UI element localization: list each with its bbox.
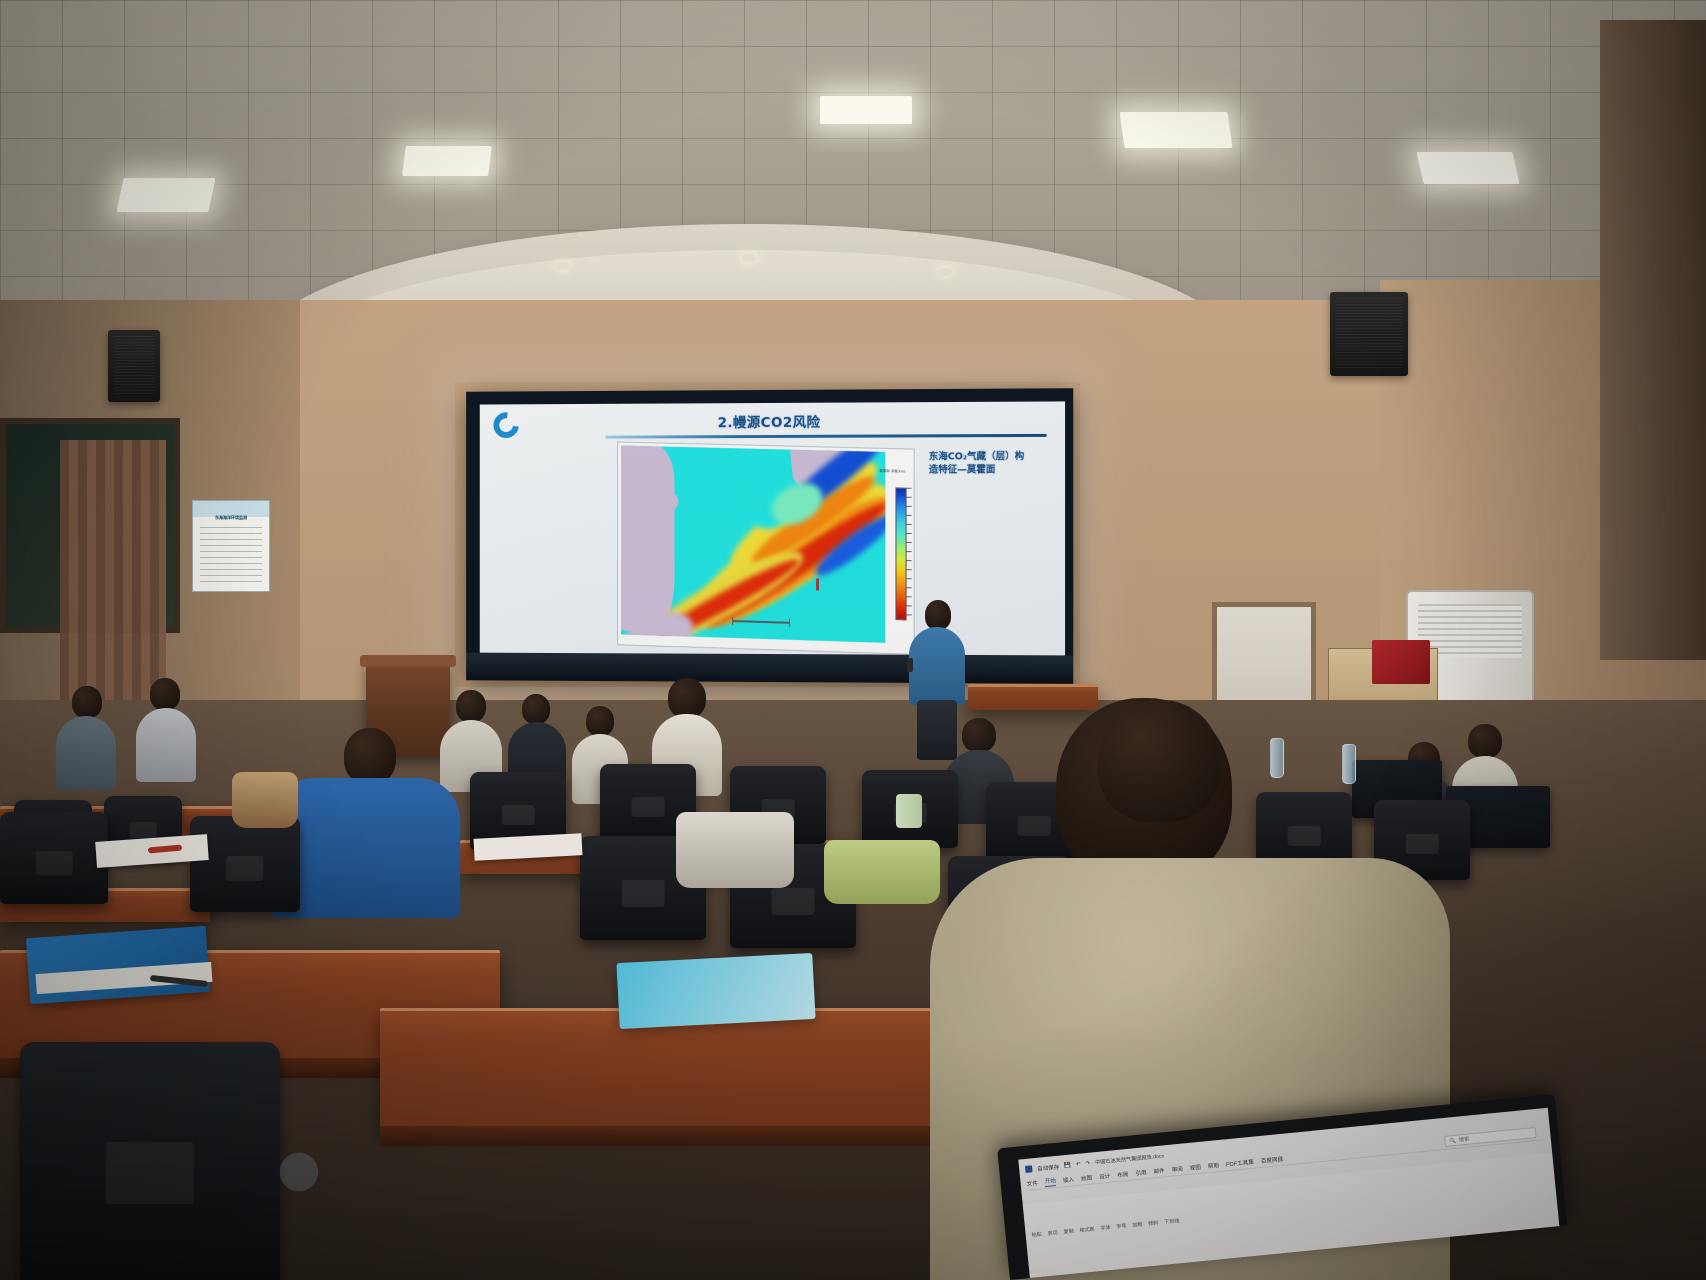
ceiling-light-5	[1416, 152, 1519, 184]
autosave-label[interactable]: 自动保存	[1037, 1162, 1060, 1172]
podium-top	[360, 655, 456, 667]
tab-home[interactable]: 开始	[1044, 1176, 1056, 1187]
ceiling-light-4	[1119, 112, 1232, 148]
head	[522, 694, 550, 724]
foreground-chair-left	[20, 1042, 280, 1280]
head	[150, 678, 180, 710]
tab-draw[interactable]: 绘图	[1081, 1173, 1093, 1182]
slide-title: 2.幔源CO2风险	[480, 410, 1065, 433]
tab-view[interactable]: 视图	[1189, 1162, 1201, 1171]
foreground-tablet[interactable]	[616, 953, 815, 1029]
poster-body-lines	[200, 527, 262, 583]
tab-baidu-netdisk[interactable]: 百度网盘	[1260, 1154, 1283, 1164]
head	[72, 686, 102, 718]
coastal-inlet-1	[651, 490, 679, 513]
tab-pdf-tools[interactable]: PDF工具集	[1226, 1157, 1255, 1168]
audience-c1	[272, 728, 460, 918]
redo-icon[interactable]: ↷	[1085, 1160, 1090, 1166]
head	[1098, 700, 1220, 822]
map-scale-bar	[732, 620, 790, 624]
projection-screen: 2.幔源CO2风险	[466, 388, 1073, 684]
ribbon-format-painter[interactable]: 格式刷	[1079, 1225, 1095, 1233]
slide-annotation-text: 东海CO₂气藏（层）构造特征—莫霍面	[929, 450, 1026, 477]
desk-edge	[380, 1126, 940, 1146]
red-banner	[1372, 640, 1430, 684]
moho-depth-heatmap	[621, 445, 885, 642]
right-speaker	[1330, 292, 1408, 376]
tab-help[interactable]: 帮助	[1207, 1161, 1219, 1170]
head	[456, 690, 486, 722]
ribbon-bold[interactable]: 加粗	[1132, 1220, 1143, 1228]
downlight-4	[938, 268, 952, 276]
document-title[interactable]: 中国石油天然气集团报告.docx	[1095, 1152, 1165, 1166]
downlight-2	[556, 262, 570, 270]
ribbon-copy[interactable]: 复制	[1063, 1227, 1074, 1235]
thermos-cup	[896, 794, 922, 828]
ribbon-underline[interactable]: 下划线	[1164, 1217, 1180, 1225]
downlight-3	[742, 254, 756, 262]
undo-icon[interactable]: ↶	[1076, 1161, 1081, 1167]
poster-title: 东海海洋环境监测	[193, 515, 269, 521]
slide-figure-panel: 莫霍面 深度(km)	[617, 441, 915, 654]
map-site-marker	[816, 579, 819, 591]
audience-a2	[136, 678, 196, 788]
search-icon: 🔍	[1449, 1137, 1456, 1144]
torso	[56, 716, 116, 790]
audience-a1	[56, 686, 116, 796]
ceiling-light-2	[402, 146, 492, 176]
left-speaker	[108, 330, 160, 402]
ribbon-italic[interactable]: 倾斜	[1148, 1219, 1159, 1227]
foreground-chair-logo	[256, 1152, 342, 1192]
chair-c5	[0, 812, 108, 904]
presenter-head	[925, 600, 951, 630]
tab-review[interactable]: 审阅	[1171, 1164, 1183, 1173]
word-app-icon	[1025, 1165, 1033, 1173]
presenter-microphone	[907, 658, 913, 672]
head	[586, 706, 614, 736]
right-wall-dark-column	[1600, 20, 1706, 660]
wall-notice-poster: 东海海洋环境监测	[192, 500, 270, 592]
green-bag	[824, 840, 940, 904]
search-placeholder[interactable]: 搜索	[1459, 1136, 1470, 1144]
slide-surface: 2.幔源CO2风险	[480, 401, 1065, 655]
tab-layout[interactable]: 布局	[1117, 1169, 1129, 1178]
lecture-hall-scene: 东海海洋环境监测 2.幔源CO2风险	[0, 0, 1706, 1280]
save-icon[interactable]: 💾	[1064, 1162, 1071, 1169]
handbag-on-desk	[232, 772, 298, 828]
ribbon-font-size[interactable]: 字号	[1116, 1222, 1127, 1230]
screen-bezel-bottom	[466, 653, 1073, 684]
ceiling-light-3	[820, 96, 912, 124]
ribbon-paste[interactable]: 粘贴	[1031, 1230, 1042, 1238]
ceiling-light-1	[116, 178, 215, 212]
ribbon-cut[interactable]: 剪切	[1047, 1229, 1058, 1237]
head	[1468, 724, 1502, 758]
tab-design[interactable]: 设计	[1099, 1171, 1111, 1180]
tab-file[interactable]: 文件	[1026, 1178, 1038, 1187]
tab-references[interactable]: 引用	[1135, 1168, 1147, 1177]
backpack-on-desk	[676, 812, 794, 888]
tab-insert[interactable]: 插入	[1062, 1175, 1074, 1184]
slide-title-divider	[605, 434, 1046, 439]
torso	[136, 708, 196, 782]
ribbon-font[interactable]: 字体	[1100, 1223, 1111, 1231]
head	[344, 728, 396, 784]
colorbar-title: 莫霍面 深度(km)	[875, 469, 909, 474]
foreground-person-2	[1078, 700, 1238, 870]
chair-c1	[190, 816, 300, 912]
tab-mailings[interactable]: 邮件	[1153, 1166, 1165, 1175]
head	[668, 678, 706, 718]
torso	[272, 778, 460, 918]
